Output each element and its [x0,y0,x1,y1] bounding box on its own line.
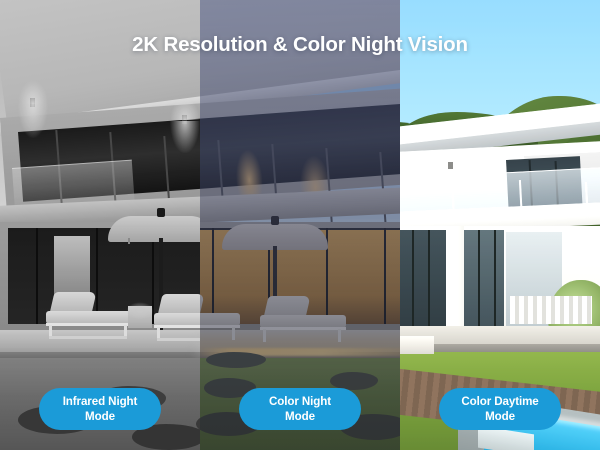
badge-label-line1: Infrared Night [63,394,138,409]
badge-label-line1: Color Night [269,394,331,409]
window-mullion [494,230,496,328]
badge-label-line2: Mode [63,409,138,424]
promo-banner: 2K Resolution & Color Night Vision Infra… [0,0,600,450]
wall-light-glow [18,80,48,104]
side-table-lamp-glow [126,302,154,320]
page-title: 2K Resolution & Color Night Vision [0,33,600,57]
lounge-chair [38,292,134,340]
wall-light [448,162,453,169]
column [446,226,464,334]
scene-render [0,0,200,450]
badge-color-night-mode[interactable]: Color Night Mode [239,388,361,430]
patio-umbrella [108,208,200,238]
mode-badge-group: Infrared Night Mode Color Night Mode Col… [0,388,600,430]
patio-chairs [510,296,592,324]
patio-umbrella [222,216,328,246]
window-mullion [428,230,430,330]
concrete-block [400,336,434,354]
window-mullion [478,230,480,328]
scene-render [200,0,400,450]
panel-infrared-night [0,0,200,450]
badge-label-line1: Color Daytime [461,394,538,409]
panel-color-daytime [400,0,600,450]
window-mullion [412,230,414,330]
scene-render [400,0,600,450]
wall-light-glow [170,98,200,120]
badge-color-daytime-mode[interactable]: Color Daytime Mode [439,388,561,430]
window-mullion [384,228,386,324]
panel-color-night [200,0,400,450]
lower-glazing-right [400,230,446,330]
wall-light-glow [18,104,48,138]
badge-label-line2: Mode [269,409,331,424]
badge-label-line2: Mode [461,409,538,424]
wall-light-glow [170,121,200,153]
lounge-chair [200,294,242,342]
lower-glazing-right [464,230,504,328]
lounge-chair [252,296,348,344]
badge-infrared-night-mode[interactable]: Infrared Night Mode [39,388,161,430]
lounge-chair [146,294,200,342]
